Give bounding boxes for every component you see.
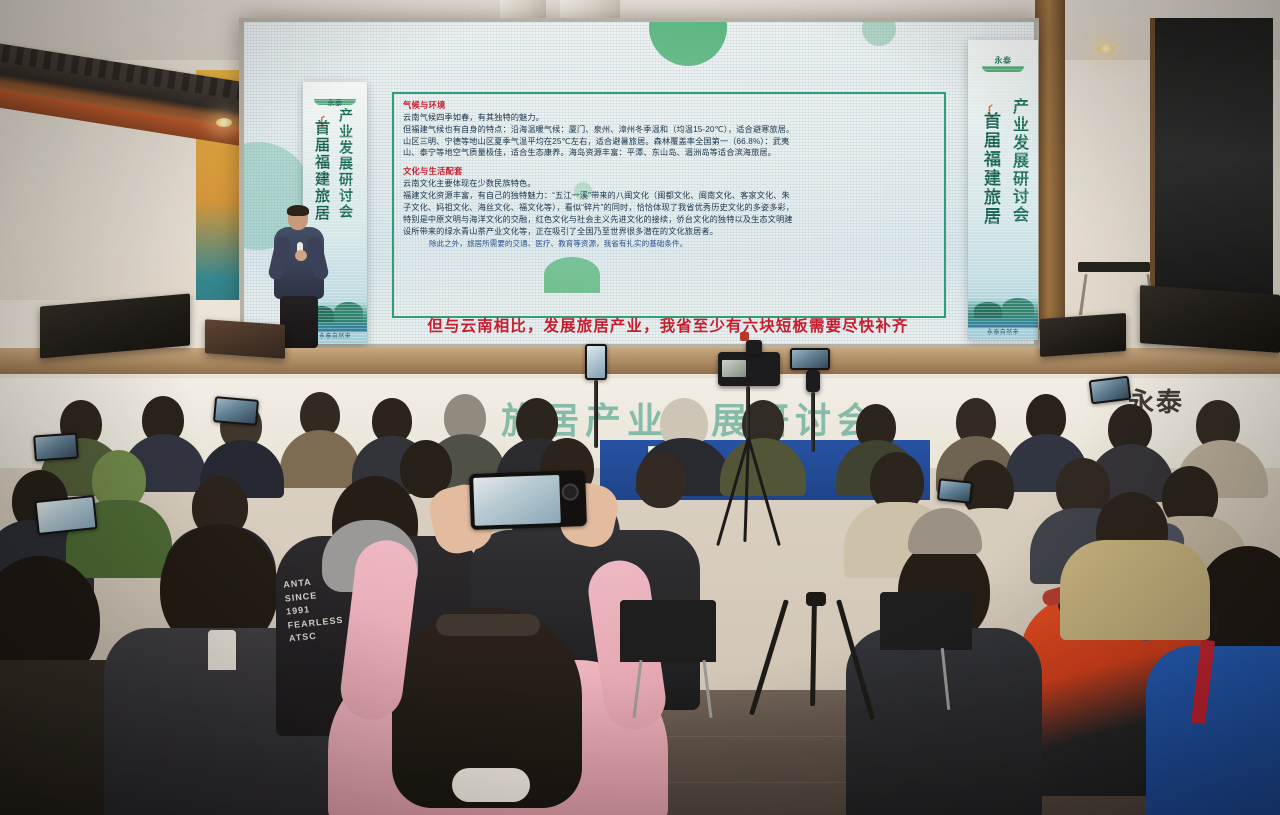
tripod-center-column[interactable] bbox=[746, 386, 750, 444]
shirt-collar bbox=[208, 630, 236, 670]
stage-monitor-speaker bbox=[1040, 313, 1126, 357]
shirt-collar bbox=[452, 768, 530, 802]
phone-device[interactable] bbox=[33, 432, 79, 461]
leaf-swoosh-icon bbox=[314, 99, 356, 105]
slide-decor-circle bbox=[649, 22, 727, 66]
slide-line: 子文化、妈祖文化、海丝文化、福文化等），看似“碎片”的同时，恰恰体现了我省优秀历… bbox=[403, 202, 935, 214]
phone-screen bbox=[35, 435, 76, 460]
slide-heading-climate: 气候与环境 bbox=[403, 100, 935, 112]
banner-right-column-far: 产业发展研讨会 bbox=[1006, 98, 1030, 308]
side-window bbox=[1150, 18, 1273, 328]
banner-logo-right: 永泰 bbox=[968, 55, 1038, 66]
phone-device[interactable] bbox=[585, 344, 607, 380]
chair bbox=[880, 592, 972, 650]
gimbal-handle[interactable] bbox=[811, 392, 815, 452]
banner-right-column-near: 首届福建旅居 bbox=[978, 112, 1003, 304]
camera-lcd-screen bbox=[722, 360, 746, 377]
phone-screen bbox=[473, 475, 561, 526]
slide-line: 设所带来的绿水青山茶产业文化等，正在吸引了全国乃至世界很多潜在的文化旅居者。 bbox=[403, 226, 935, 238]
speaker-trousers bbox=[280, 296, 318, 348]
banner-right-footer: 永泰自然来 bbox=[968, 327, 1038, 336]
audience-head bbox=[636, 452, 686, 508]
phone-device[interactable] bbox=[790, 348, 830, 370]
slide-text-box: 气候与环境 云南气候四季如春，有其独特的魅力。 但福建气候也有自身的特点：沿海温… bbox=[392, 92, 946, 318]
stage-monitor-speaker bbox=[205, 319, 285, 359]
slide-indent-line: 除此之外，旅居所需要的交通、医疗、教育等资源，我省有扎实的基础条件。 bbox=[403, 238, 935, 249]
slide-line: 特别是中原文明与海洋文化的交融，红色文化与社会主义先进文化的接续，侨台文化的独特… bbox=[403, 214, 935, 226]
ceiling-lamp-icon bbox=[216, 118, 232, 127]
phone-device-raised[interactable] bbox=[469, 470, 587, 530]
bracket-open-icon: 〔 bbox=[312, 112, 325, 131]
audience-jacket bbox=[1146, 646, 1280, 815]
conference-photo-scene: 气候与环境 云南气候四季如春，有其独特的魅力。 但福建气候也有自身的特点：沿海温… bbox=[0, 0, 1280, 815]
banner-right: 永泰 〔 首届福建旅居 产业发展研讨会 永泰自然来 bbox=[968, 40, 1038, 340]
stage-monitor-speaker bbox=[1140, 285, 1280, 353]
tripod-hub bbox=[806, 592, 826, 606]
banner-logo-left: 永泰 bbox=[303, 98, 367, 108]
phone-device[interactable] bbox=[213, 396, 259, 426]
phone-screen bbox=[587, 346, 605, 378]
wooden-beam bbox=[1035, 0, 1065, 330]
speaker-hair bbox=[287, 205, 309, 216]
gimbal-motor bbox=[806, 370, 820, 392]
slide-line: 山区三明、宁德等地山区夏季气温平均在25℃左右，适合避暑旅居。森林覆盖率全国第一… bbox=[403, 136, 935, 148]
phone-device[interactable] bbox=[1089, 376, 1132, 405]
phone-screen bbox=[215, 398, 257, 423]
phone-screen bbox=[939, 480, 971, 501]
phone-camera-lens-icon bbox=[561, 483, 579, 501]
banner-left-column-far: 产业发展研讨会 bbox=[336, 108, 356, 322]
leaf-swoosh-icon bbox=[982, 66, 1024, 72]
phone-device[interactable] bbox=[937, 478, 973, 503]
ceiling-lamp-icon bbox=[1098, 44, 1114, 53]
phone-screen bbox=[37, 497, 96, 533]
slide-line: 福建文化资源丰富，有自己的独特魅力：“五江一溪”带来的八闽文化（闽都文化、闽南文… bbox=[403, 190, 935, 202]
hair-clip bbox=[436, 614, 540, 636]
camera-record-indicator bbox=[740, 332, 749, 341]
speaker-hand bbox=[295, 250, 307, 261]
bracket-open-icon: 〔 bbox=[979, 102, 993, 122]
selfie-stick-pole[interactable] bbox=[594, 380, 598, 448]
slide-decor-circle bbox=[862, 22, 896, 46]
chair bbox=[620, 600, 716, 662]
slide-line: 云南气候四季如春，有其独特的魅力。 bbox=[403, 112, 935, 124]
banner-hill-illustration bbox=[968, 298, 1038, 328]
slide-heading-culture: 文化与生活配套 bbox=[403, 166, 935, 178]
phone-device[interactable] bbox=[34, 495, 97, 535]
slide-line: 但福建气候也有自身的特点：沿海温暖气候：厦门、泉州、漳州冬季温和（均温15-20… bbox=[403, 124, 935, 136]
audience-coat bbox=[1060, 540, 1210, 640]
camera-lens-hood bbox=[746, 340, 762, 354]
phone-screen bbox=[792, 350, 828, 368]
slide-punchline: 但与云南相比，发展旅居产业，我省至少有六块短板需要尽快补齐 bbox=[394, 314, 942, 336]
keyboard-stand bbox=[1078, 262, 1150, 272]
slide-line: 云南文化主要体现在少数民族特色。 bbox=[403, 178, 935, 190]
slide-line: 山、泰宁等地空气质量极佳，适合生态康养。海岛资源丰富：平潭、东山岛、湄洲岛等适合… bbox=[403, 147, 935, 159]
phone-screen bbox=[1091, 378, 1129, 402]
